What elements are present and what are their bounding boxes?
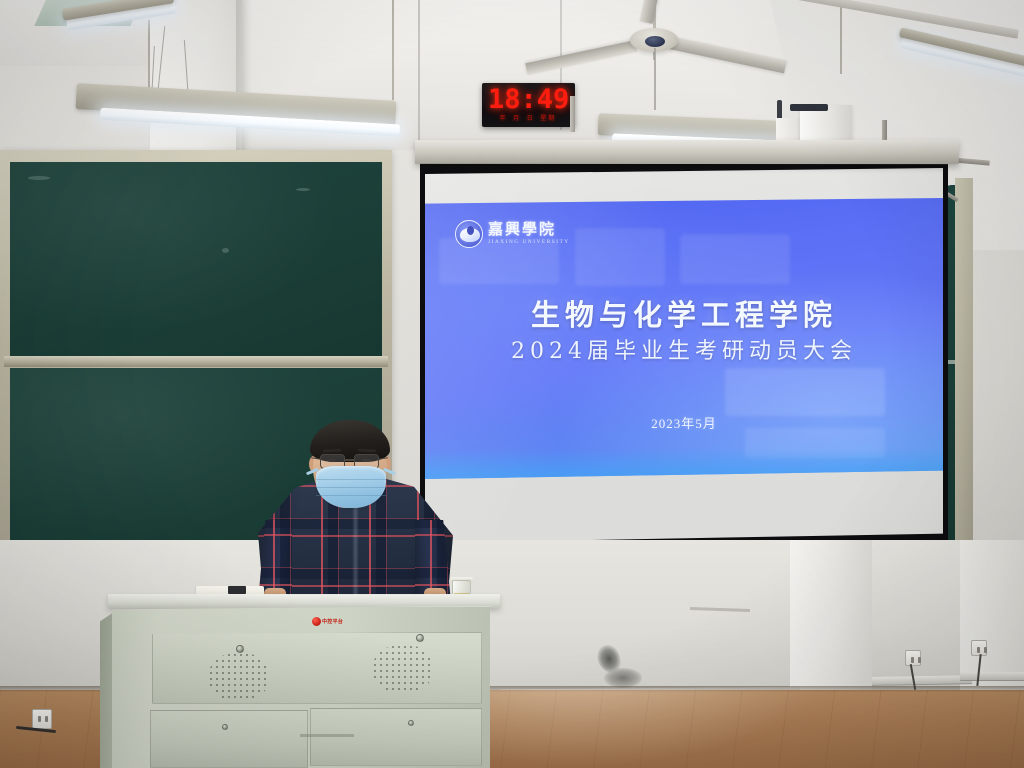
projected-slide: 嘉興學院 JIAXING UNIVERSITY 生物与化学工程学院 2024届毕… [425, 198, 943, 479]
podium-left-side [100, 612, 114, 768]
screen-roller-case [415, 140, 959, 164]
chalkboard-right-frame [955, 178, 973, 570]
column-shadow [236, 0, 252, 152]
podium-drawer-left[interactable] [150, 710, 308, 768]
mask-pleat [316, 495, 386, 496]
slide-date: 2023年5月 [425, 413, 943, 432]
clock-sub-labels: 年 月 日 星期 [488, 113, 568, 122]
power-outlet[interactable] [32, 709, 52, 729]
digital-wall-clock: 18:49 年 月 日 星期 [482, 83, 575, 127]
slide-subtitle: 2024届毕业生考研动员大会 [425, 333, 943, 365]
slide-watermark [680, 234, 790, 284]
chalk-rail [4, 356, 388, 367]
wall-damage-mark [604, 668, 642, 688]
drawer-lock-right[interactable] [408, 720, 414, 726]
wall-column [150, 0, 242, 152]
drawer-handle[interactable] [300, 734, 354, 737]
podium-drawer-right[interactable] [310, 708, 482, 766]
podium-worktop [108, 594, 500, 608]
power-outlet[interactable] [905, 650, 921, 666]
baseboard [960, 672, 1024, 681]
slide-title: 生物与化学工程学院 [425, 292, 943, 334]
fan-pull-chain [654, 48, 656, 110]
panel-lock-right[interactable] [416, 634, 424, 642]
chalkboard-panel-upper [10, 162, 382, 356]
slide-watermark [725, 368, 885, 416]
podium-brand-logo: 中控平台 [312, 616, 348, 626]
slide-watermark [575, 228, 665, 286]
university-logo-english: JIAXING UNIVERSITY [488, 240, 570, 245]
fan-motor-cap [645, 36, 665, 47]
chalk-smudge [296, 188, 310, 191]
classroom-photo-scene: 18:49 年 月 日 星期 嘉興學院 JIAXING UNI [0, 0, 1024, 768]
glasses-bridge [344, 459, 355, 461]
clock-time-display: 18:49 [488, 85, 566, 115]
light-hanger [392, 0, 394, 100]
podium-logo-icon [312, 617, 321, 626]
light-hanger [840, 0, 842, 74]
panel-lock-left[interactable] [236, 645, 244, 653]
podium-control-screen [228, 586, 246, 594]
mask-pleat [316, 487, 386, 488]
chalk-smudge [222, 248, 229, 253]
university-logo-icon [455, 220, 483, 248]
clock-mount-bracket [570, 96, 575, 132]
baseboard [872, 675, 972, 686]
beam-seam [418, 0, 420, 150]
speaker-grille-left [208, 652, 270, 702]
equipment-dark-strip [790, 104, 828, 111]
university-logo: 嘉興學院 JIAXING UNIVERSITY [455, 220, 570, 248]
chalk-smudge [28, 176, 50, 180]
university-logo-chinese: 嘉興學院 [488, 222, 556, 237]
podium-brand-label: 中控平台 [322, 618, 343, 625]
speaker-grille-right [372, 644, 434, 694]
drawer-lock-left[interactable] [222, 724, 228, 730]
mask-pleat [316, 479, 386, 480]
